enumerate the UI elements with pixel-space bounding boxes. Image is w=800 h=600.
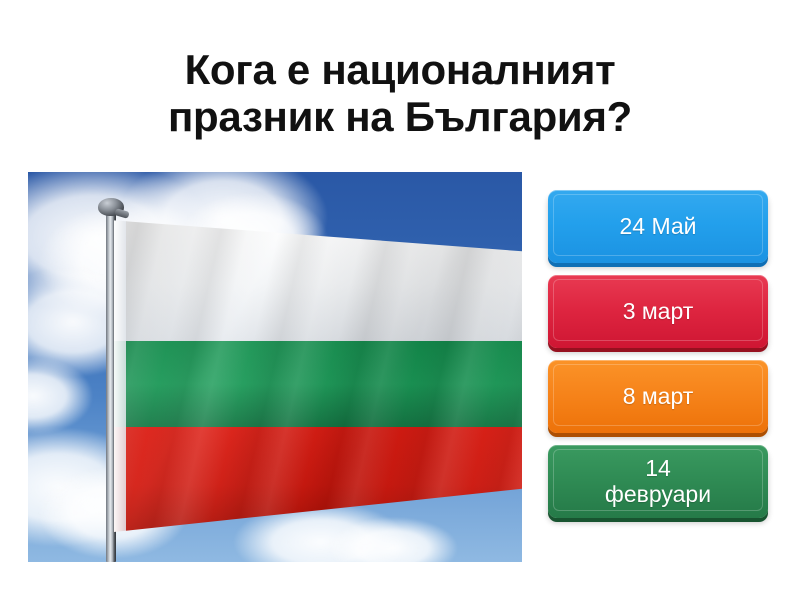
answer-label: 14 февруари [597, 456, 719, 508]
flag-cloth [114, 214, 522, 532]
flagpole-cap [98, 198, 124, 216]
answer-button-2[interactable]: 3 март [548, 275, 768, 348]
flag-image [28, 172, 522, 562]
answer-list: 24 Май 3 март 8 март 14 февруари [548, 190, 768, 518]
answer-label: 24 Май [611, 214, 704, 240]
answer-label: 8 март [615, 384, 702, 410]
flag-band-green [114, 341, 522, 427]
answer-button-3[interactable]: 8 март [548, 360, 768, 433]
answer-button-4[interactable]: 14 февруари [548, 445, 768, 518]
page-title: Кога е националният празник на България? [0, 46, 800, 140]
flag-hoist-edge [114, 214, 126, 532]
answer-label: 3 март [615, 299, 702, 325]
answer-button-1[interactable]: 24 Май [548, 190, 768, 263]
